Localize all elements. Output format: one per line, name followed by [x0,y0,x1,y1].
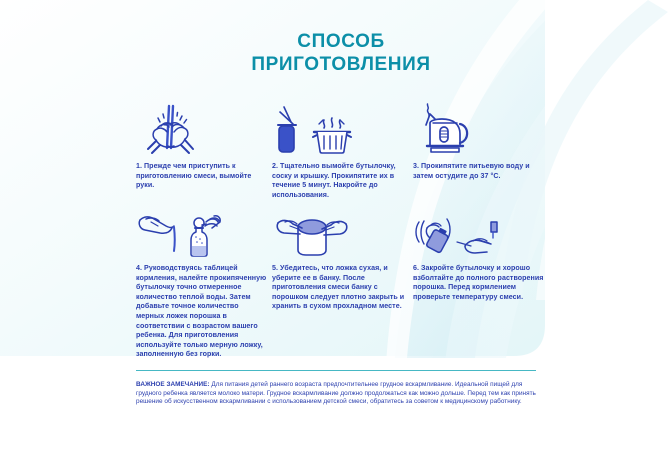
step-1-text: 1. Прежде чем приступить к приготовлению… [136,162,268,191]
closing-jar-icon [272,206,352,258]
step-4-icon-wrap [136,206,268,258]
washing-hands-icon [136,104,208,156]
title-line-2: ПРИГОТОВЛЕНИЯ [136,53,546,76]
poster-canvas: СПОСОБ ПРИГОТОВЛЕНИЯ [0,0,668,454]
step-5-text: 5. Убедитесь, что ложка сухая, и уберите… [272,264,412,312]
important-note: ВАЖНОЕ ЗАМЕЧАНИЕ: Для питания детей ранн… [136,381,536,407]
step-6-icon-wrap [413,206,545,258]
electric-kettle-icon [413,102,483,156]
important-note-label: ВАЖНОЕ ЗАМЕЧАНИЕ: [136,381,210,388]
step-3-text: 3. Прокипятите питьевую воду и затем ост… [413,162,545,181]
step-2-icon-wrap [272,104,412,156]
step-6-text: 6. Закройте бутылочку и хорошо взболтайт… [413,264,545,302]
title-line-1: СПОСОБ [136,30,546,53]
step-2: 2. Тщательно вымойте бутылочку, соску и … [272,104,412,200]
page-title: СПОСОБ ПРИГОТОВЛЕНИЯ [136,30,546,76]
bottle-brush-and-boiling-pot-icon [272,104,358,156]
pouring-water-and-adding-scoop-icon [136,206,222,258]
step-4-text: 4. Руководствуясь таблицей кормления, на… [136,264,268,360]
step-1: 1. Прежде чем приступить к приготовлению… [136,104,268,191]
step-1-icon-wrap [136,104,268,156]
section-divider [136,370,536,371]
step-4: 4. Руководствуясь таблицей кормления, на… [136,206,268,360]
step-3: 3. Прокипятите питьевую воду и затем ост… [413,104,545,181]
step-5: 5. Убедитесь, что ложка сухая, и уберите… [272,206,412,312]
step-5-icon-wrap [272,206,412,258]
step-3-icon-wrap [413,104,545,156]
shaking-bottle-and-wrist-test-icon [413,206,499,258]
poster-content: СПОСОБ ПРИГОТОВЛЕНИЯ [0,0,668,454]
step-6: 6. Закройте бутылочку и хорошо взболтайт… [413,206,545,302]
step-2-text: 2. Тщательно вымойте бутылочку, соску и … [272,162,412,200]
